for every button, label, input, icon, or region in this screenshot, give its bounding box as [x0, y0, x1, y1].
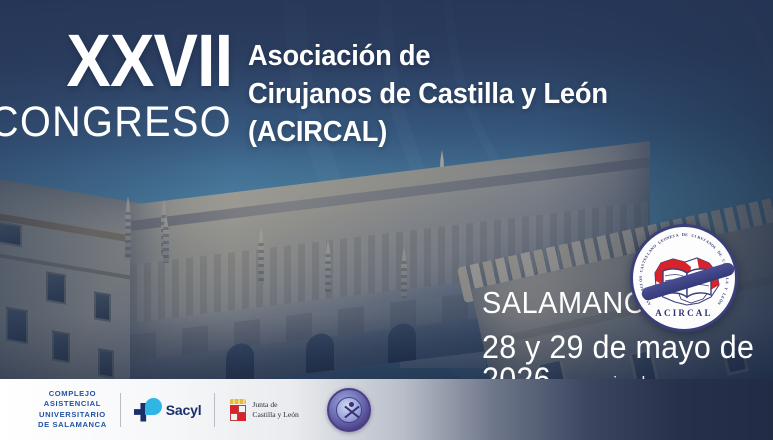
sacyl-cross-icon — [134, 397, 162, 423]
hospital-line-3: UNIVERSITARIO — [38, 410, 107, 420]
logo-divider — [120, 393, 121, 427]
seal-ring-char — [688, 233, 690, 237]
hospital-logo: COMPLEJO ASISTENCIAL UNIVERSITARIO DE SA… — [38, 389, 107, 430]
seal-ring-char: N — [639, 276, 643, 279]
congress-banner: XXVII CONGRESO Asociación de Cirujanos d… — [0, 0, 773, 440]
sacyl-label: Sacyl — [166, 402, 202, 418]
surgical-society-seal-logo — [327, 388, 371, 432]
hospital-line-2: ASISTENCIAL — [38, 399, 107, 409]
association-name: Asociación de Cirujanos de Castilla y Le… — [248, 30, 631, 152]
title-block: XXVII CONGRESO Asociación de Cirujanos d… — [26, 30, 631, 152]
junta-line-1: Junta de — [252, 400, 298, 409]
seal-ring-char — [679, 233, 680, 237]
seal-ring-char: Ó — [639, 279, 643, 282]
footer-bar: COMPLEJO ASISTENCIAL UNIVERSITARIO DE SA… — [0, 379, 773, 440]
sacyl-logo: Sacyl — [134, 397, 202, 423]
logo-divider — [214, 393, 215, 427]
acircal-seal-logo: ASOCIACIÓN CASTELLANO LEONESA DE CIRUJAN… — [630, 224, 738, 332]
congress-word: CONGRESO — [0, 100, 232, 146]
edition-roman-numeral: XXVII — [66, 30, 232, 92]
junta-castilla-leon-logo: Junta de Castilla y León — [228, 399, 298, 421]
association-line-3: (ACIRCAL) — [248, 114, 608, 152]
junta-line-2: Castilla y León — [252, 410, 298, 419]
association-line-2: Cirujanos de Castilla y León — [248, 76, 608, 114]
hospital-line-4: DE SALAMANCA — [38, 420, 107, 430]
hospital-line-1: COMPLEJO — [38, 389, 107, 399]
seal-inner-disc — [336, 397, 362, 423]
seal-acronym: ACIRCAL — [633, 308, 735, 318]
association-line-1: Asociación de — [248, 38, 608, 76]
junta-label: Junta de Castilla y León — [252, 400, 298, 419]
junta-shield-icon — [228, 399, 248, 421]
